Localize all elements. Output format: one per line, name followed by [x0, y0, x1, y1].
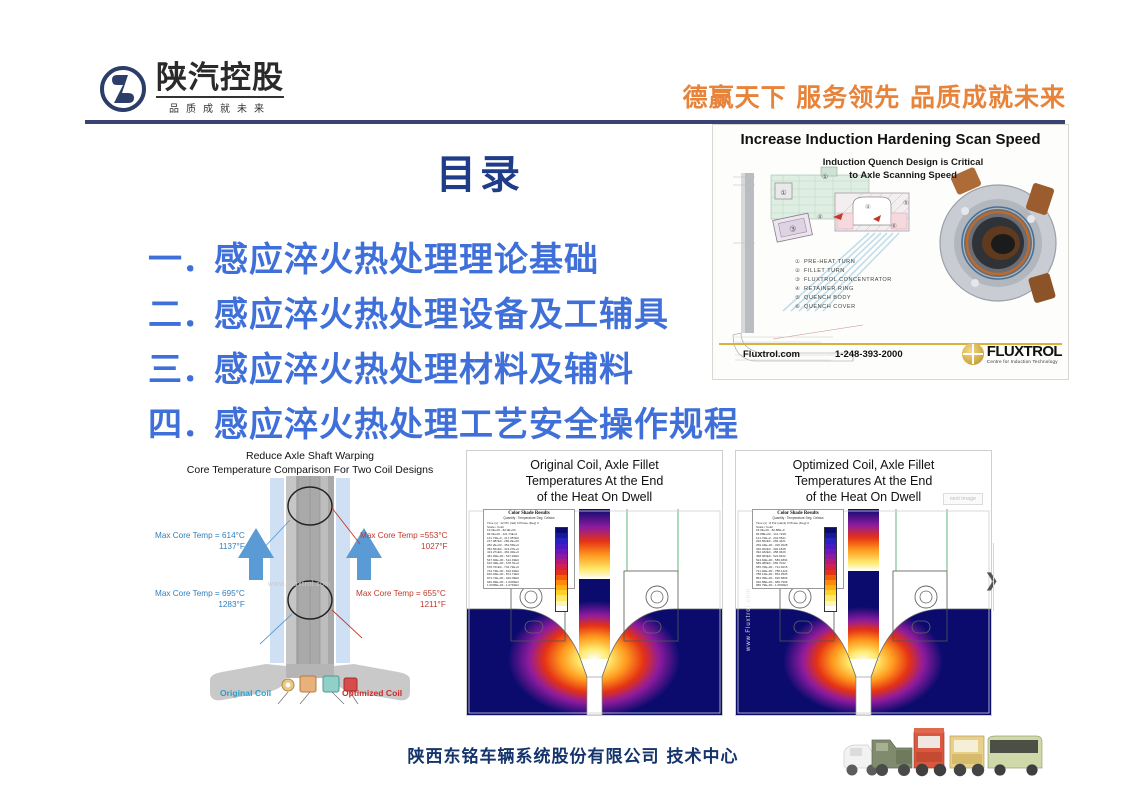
legend-marker-3: ③ — [795, 276, 804, 285]
fea-left-color-scale — [555, 527, 568, 612]
label-top-right-value2: 1027°F — [360, 541, 448, 552]
slide-header: 陕汽控股 品质成就未来 德赢天下 服务领先 品质成就未来 — [0, 0, 1146, 120]
label-max-core-temp-top-right: Max Core Temp =553°C 1027°F — [360, 530, 448, 552]
header-slogan: 德赢天下 服务领先 品质成就未来 — [683, 78, 1066, 114]
legend-marker-5: ⑤ — [795, 294, 804, 303]
fluxtrol-card-footer: Fluxtrol.com 1-248-393-2000 FLUXTROL Cen… — [713, 345, 1068, 371]
fluxtrol-card-subtitle: Induction Quench Design is Critical to A… — [788, 157, 1018, 183]
toc-item-4-label: 感应淬火热处理工艺安全操作规程 — [214, 397, 739, 446]
legend-marker-4: ④ — [795, 285, 804, 294]
fea-panel-optimized-coil[interactable]: Optimized Coil, Axle Fillet Temperatures… — [735, 450, 992, 716]
lightning-bolt-circle-logo-icon — [100, 66, 146, 112]
legend-marker-1: ① — [795, 258, 804, 267]
toc-item-3-number: 三． — [148, 342, 214, 391]
toc-item-4-number: 四． — [148, 397, 214, 446]
legend-label-5: QUENCH BODY — [804, 295, 851, 301]
next-image-chevron-icon[interactable]: ❯ — [984, 570, 999, 591]
label-top-left-value2: 1137°F — [155, 541, 245, 552]
fluxtrol-brand-text: FLUXTROL Centre for Induction Technology — [987, 344, 1062, 364]
legend-item-3: ③FLUXTROL CONCENTRATOR — [795, 276, 892, 285]
logo-tagline: 品质成就未来 — [156, 100, 284, 115]
legend-label-1: PRE-HEAT TURN — [804, 259, 855, 265]
logo-divider — [156, 96, 284, 98]
fluxtrol-subtitle-line2: to Axle Scanning Speed — [849, 170, 957, 181]
fea-left-title: Original Coil, Axle Fillet Temperatures … — [467, 457, 722, 505]
fea-right-color-scale — [824, 527, 837, 612]
toc-item-1-label: 感应淬火热处理理论基础 — [214, 232, 599, 281]
original-coil-label: Original Coil — [220, 688, 271, 698]
presentation-slide: 陕汽控股 品质成就未来 德赢天下 服务领先 品质成就未来 目录 一． 感应淬火热… — [0, 0, 1146, 811]
logo-wordmark: 陕汽控股 品质成就未来 — [156, 63, 284, 115]
svg-text:①: ① — [780, 189, 786, 197]
fea-left-title-line2: Temperatures At the End — [526, 474, 664, 488]
fluxtrol-website[interactable]: Fluxtrol.com — [743, 349, 800, 360]
label-top-right-value1: Max Core Temp =553°C — [360, 531, 448, 540]
legend-label-3: FLUXTROL CONCENTRATOR — [804, 277, 892, 283]
label-max-core-temp-bottom-left: Max Core Temp = 695°C 1283°F — [155, 588, 245, 610]
fluxtrol-brand-tagline: Centre for Induction Technology — [987, 359, 1062, 364]
legend-label-6: QUENCH COVER — [804, 304, 856, 310]
toc-item-3-label: 感应淬火热处理材料及辅料 — [214, 342, 634, 391]
svg-text:④: ④ — [817, 214, 823, 221]
toc-item-2[interactable]: 二． 感应淬火热处理设备及工辅具 — [148, 287, 739, 336]
truck-lineup-photo-icon — [838, 718, 1053, 788]
legend-item-2: ②FILLET TURN — [795, 267, 892, 276]
label-bottom-left-value1: Max Core Temp = 695°C — [155, 589, 245, 598]
legend-label-4: RETAINER RING — [804, 286, 854, 292]
legend-item-6: ⑥QUENCH COVER — [795, 303, 892, 312]
label-bottom-right-value2: 1211°F — [356, 599, 446, 610]
label-max-core-temp-bottom-right: Max Core Temp = 655°C 1211°F — [356, 588, 446, 610]
label-top-left-value1: Max Core Temp = 614°C — [155, 531, 245, 540]
legend-item-1: ①PRE-HEAT TURN — [795, 258, 892, 267]
logo-company-name: 陕汽控股 — [156, 63, 284, 94]
toc-item-1[interactable]: 一． 感应淬火热处理理论基础 — [148, 232, 739, 281]
table-of-contents: 一． 感应淬火热处理理论基础 二． 感应淬火热处理设备及工辅具 三． 感应淬火热… — [148, 232, 739, 452]
legend-marker-2: ② — [795, 267, 804, 276]
optimized-coil-label: Optimized Coil — [342, 688, 402, 698]
fluxtrol-card-title: Increase Induction Hardening Scan Speed — [713, 131, 1068, 148]
fluxtrol-crosshair-icon — [962, 343, 984, 365]
fea-right-title-line2: Temperatures At the End — [795, 474, 933, 488]
fluxtrol-watermark: www.Fluxtrol.com — [268, 581, 331, 588]
legend-marker-6: ⑥ — [795, 303, 804, 312]
toc-item-3[interactable]: 三． 感应淬火热处理材料及辅料 — [148, 342, 739, 391]
svg-text:⑤: ⑤ — [903, 200, 909, 207]
fluxtrol-scan-speed-image[interactable]: ① ① ⑤ ⑥ ④ ③ ④ — [712, 124, 1069, 380]
fea-right-watermark: www.Fluxtrol.com — [746, 588, 752, 651]
page-title: 目录 — [330, 142, 630, 200]
svg-text:④: ④ — [865, 204, 871, 211]
toc-item-4[interactable]: 四． 感应淬火热处理工艺安全操作规程 — [148, 397, 739, 446]
axle-warping-diagram[interactable]: Reduce Axle Shaft Warping Core Temperatu… — [160, 448, 460, 713]
company-logo: 陕汽控股 品质成就未来 — [100, 63, 284, 115]
toc-item-2-label: 感应淬火热处理设备及工辅具 — [214, 287, 669, 336]
fea-right-title-line1: Optimized Coil, Axle Fillet — [793, 458, 935, 472]
legend-label-2: FILLET TURN — [804, 268, 845, 274]
next-image-divider — [993, 543, 994, 611]
fea-panel-original-coil[interactable]: Original Coil, Axle Fillet Temperatures … — [466, 450, 723, 716]
fluxtrol-subtitle-line1: Induction Quench Design is Critical — [823, 157, 983, 168]
legend-item-5: ⑤QUENCH BODY — [795, 294, 892, 303]
fea-left-title-line3: of the Heat On Dwell — [537, 490, 652, 504]
toc-item-2-number: 二． — [148, 287, 214, 336]
fluxtrol-brand-logo: FLUXTROL Centre for Induction Technology — [962, 343, 1062, 365]
label-bottom-left-value2: 1283°F — [155, 599, 245, 610]
fluxtrol-brand-name: FLUXTROL — [987, 344, 1062, 359]
next-image-button[interactable]: next image — [943, 493, 983, 505]
bolt-glyph — [110, 74, 136, 104]
quench-parts-legend: ①PRE-HEAT TURN ②FILLET TURN ③FLUXTROL CO… — [795, 258, 892, 312]
svg-text:⑥: ⑥ — [891, 223, 897, 230]
fea-right-title-line3: of the Heat On Dwell — [806, 490, 921, 504]
fluxtrol-phone: 1-248-393-2000 — [835, 349, 903, 360]
toc-item-1-number: 一． — [148, 232, 214, 281]
label-bottom-right-value1: Max Core Temp = 655°C — [356, 589, 446, 598]
label-max-core-temp-top-left: Max Core Temp = 614°C 1137°F — [155, 530, 245, 552]
legend-item-4: ④RETAINER RING — [795, 285, 892, 294]
fea-left-title-line1: Original Coil, Axle Fillet — [530, 458, 659, 472]
